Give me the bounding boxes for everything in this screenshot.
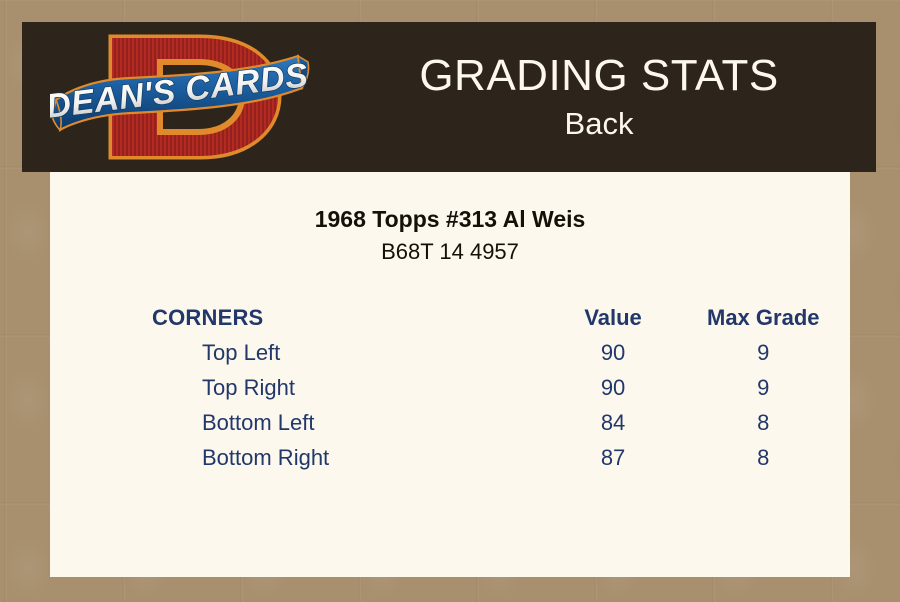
row-max-grade: 8: [677, 440, 850, 475]
row-value: 87: [550, 440, 677, 475]
row-label: Bottom Left: [50, 405, 550, 440]
row-max-grade: 9: [677, 335, 850, 370]
content-panel: 1968 Topps #313 Al Weis B68T 14 4957 COR…: [50, 172, 850, 577]
row-label: Bottom Right: [50, 440, 550, 475]
row-max-grade: 8: [677, 405, 850, 440]
row-value: 90: [550, 335, 677, 370]
column-header-max-grade: Max Grade: [677, 300, 850, 335]
row-max-grade: 9: [677, 370, 850, 405]
row-value: 90: [550, 370, 677, 405]
card-title: 1968 Topps #313 Al Weis: [50, 205, 850, 233]
grading-stats-page: DEAN'S CARDS GRADING STATS Back 1968 Top…: [0, 0, 900, 602]
column-header-value: Value: [550, 300, 677, 335]
header-title-block: GRADING STATS Back: [322, 22, 876, 172]
card-code: B68T 14 4957: [50, 238, 850, 266]
deans-cards-logo[interactable]: DEAN'S CARDS: [50, 26, 312, 168]
column-header-category: CORNERS: [50, 300, 550, 335]
table-header-row: CORNERS Value Max Grade: [50, 300, 850, 335]
grading-stats-table: CORNERS Value Max Grade Top Left 90 9 To…: [50, 300, 850, 475]
table-row: Bottom Right 87 8: [50, 440, 850, 475]
row-label: Top Right: [50, 370, 550, 405]
header-bar: DEAN'S CARDS GRADING STATS Back: [22, 22, 876, 172]
page-subtitle: Back: [565, 104, 634, 144]
table-row: Top Left 90 9: [50, 335, 850, 370]
row-label: Top Left: [50, 335, 550, 370]
table-row: Top Right 90 9: [50, 370, 850, 405]
table-row: Bottom Left 84 8: [50, 405, 850, 440]
page-title: GRADING STATS: [419, 51, 778, 101]
row-value: 84: [550, 405, 677, 440]
